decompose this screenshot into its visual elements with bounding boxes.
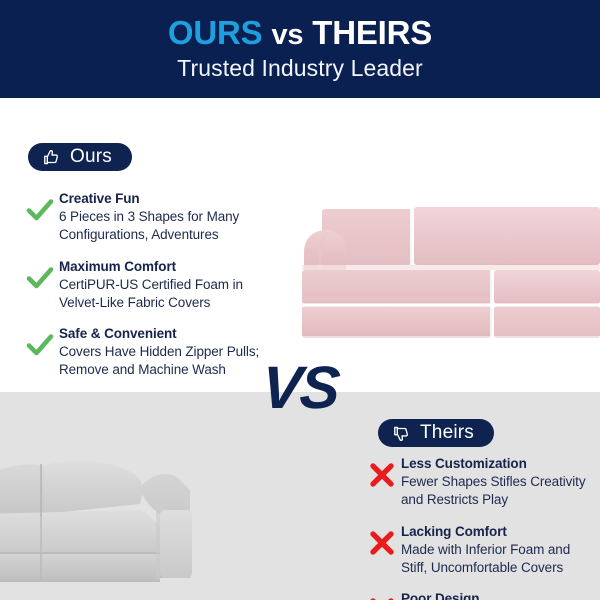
ours-feature-list: Creative Fun 6 Pieces in 3 Shapes for Ma…: [24, 190, 286, 379]
page-subtitle: Trusted Industry Leader: [177, 55, 423, 82]
theirs-product-image: [0, 430, 242, 600]
check-icon: [24, 262, 56, 296]
list-item-title: Lacking Comfort: [401, 523, 594, 540]
list-item-desc: CertiPUR-US Certified Foam in Velvet-Lik…: [59, 276, 286, 311]
list-item-title: Safe & Convenient: [59, 325, 286, 342]
theirs-badge-label: Theirs: [420, 422, 474, 444]
list-item-body: Poor Design Exposed Zipper Pulls Can Be …: [398, 590, 594, 600]
list-item-title: Maximum Comfort: [59, 258, 286, 275]
list-item: Maximum Comfort CertiPUR-US Certified Fo…: [24, 258, 286, 312]
list-item: Creative Fun 6 Pieces in 3 Shapes for Ma…: [24, 190, 286, 244]
list-item-desc: 6 Pieces in 3 Shapes for Many Configurat…: [59, 208, 286, 243]
check-icon: [24, 329, 56, 363]
check-icon: [24, 194, 56, 228]
title-theirs: THEIRS: [312, 14, 432, 51]
x-icon: [366, 459, 398, 493]
list-item-title: Poor Design: [401, 590, 594, 600]
comparison-infographic: OURS vs THEIRS Trusted Industry Leader: [0, 0, 600, 600]
theirs-drawback-list: Less Customization Fewer Shapes Stifles …: [366, 455, 594, 600]
list-item-body: Creative Fun 6 Pieces in 3 Shapes for Ma…: [56, 190, 286, 244]
list-item: Lacking Comfort Made with Inferior Foam …: [366, 523, 594, 577]
ours-badge: Ours: [28, 143, 132, 171]
page-title: OURS vs THEIRS: [168, 16, 432, 51]
title-ours: OURS: [168, 14, 263, 51]
thumbs-up-icon: [42, 148, 61, 167]
x-icon: [366, 594, 398, 600]
list-item-body: Maximum Comfort CertiPUR-US Certified Fo…: [56, 258, 286, 312]
list-item: Safe & Convenient Covers Have Hidden Zip…: [24, 325, 286, 379]
ours-badge-label: Ours: [70, 146, 112, 168]
list-item: Poor Design Exposed Zipper Pulls Can Be …: [366, 590, 594, 600]
list-item: Less Customization Fewer Shapes Stifles …: [366, 455, 594, 509]
thumbs-down-icon: [392, 424, 411, 443]
x-icon: [366, 527, 398, 561]
ours-product-image: [300, 196, 600, 346]
title-vs: vs: [271, 19, 303, 51]
list-item-body: Safe & Convenient Covers Have Hidden Zip…: [56, 325, 286, 379]
list-item-body: Less Customization Fewer Shapes Stifles …: [398, 455, 594, 509]
theirs-badge: Theirs: [378, 419, 494, 447]
list-item-desc: Fewer Shapes Stifles Creativity and Rest…: [401, 473, 594, 508]
list-item-body: Lacking Comfort Made with Inferior Foam …: [398, 523, 594, 577]
list-item-desc: Made with Inferior Foam and Stiff, Uncom…: [401, 541, 594, 576]
list-item-title: Creative Fun: [59, 190, 286, 207]
list-item-title: Less Customization: [401, 455, 594, 472]
list-item-desc: Covers Have Hidden Zipper Pulls; Remove …: [59, 343, 286, 378]
header-banner: OURS vs THEIRS Trusted Industry Leader: [0, 0, 600, 98]
